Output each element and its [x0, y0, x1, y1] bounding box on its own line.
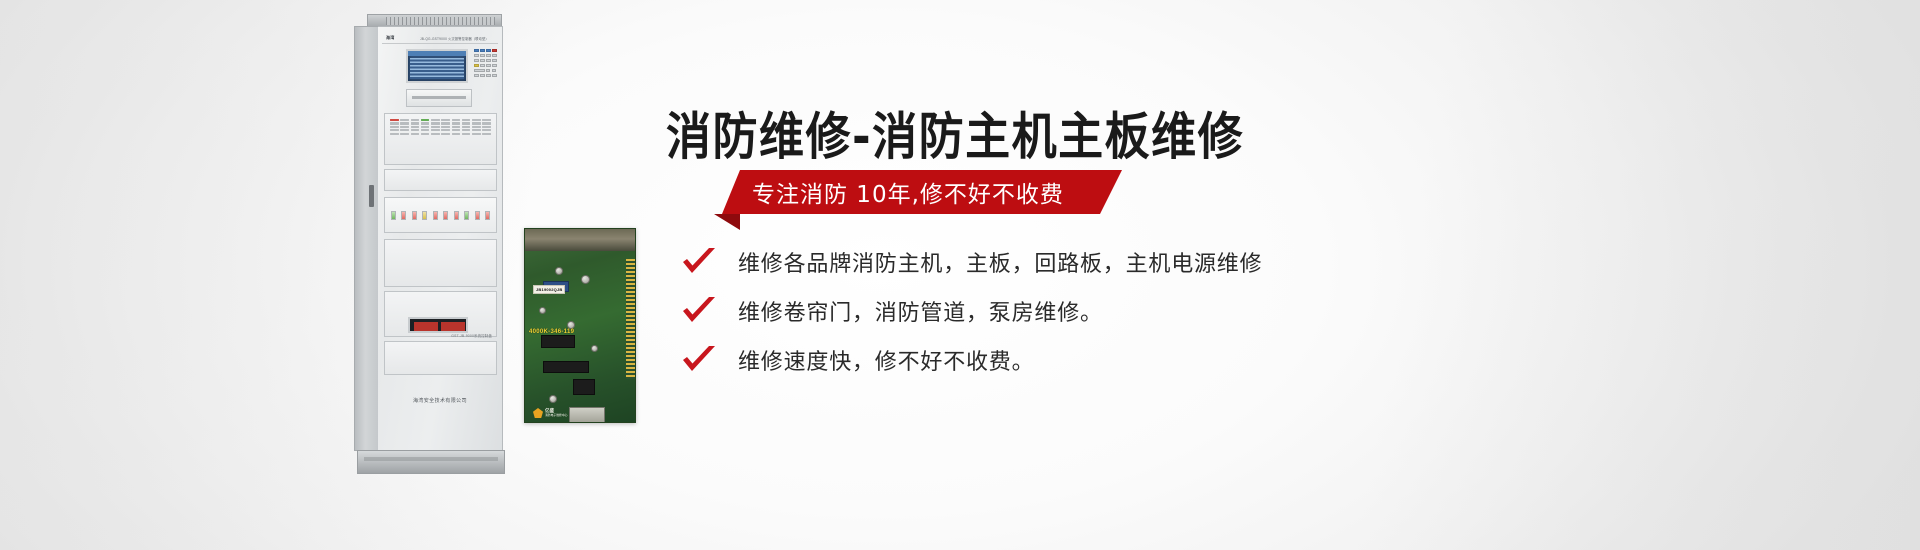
- cabinet-printer-slot: [406, 89, 472, 107]
- feature-list: 维修各品牌消防主机，主板，回路板，主机电源维修 维修卷帘门，消防管道，泵房维修。…: [682, 240, 1782, 387]
- cabinet-side-door: [354, 26, 379, 451]
- lcd-text-rows: [410, 58, 464, 79]
- board-chip: [541, 335, 575, 348]
- board-chip: [543, 361, 589, 373]
- shield-icon: [533, 408, 543, 418]
- cabinet-door-handle: [369, 185, 374, 207]
- badge-title: 亿盛消防电子维修中心: [545, 409, 567, 417]
- board-sticker-label: JB19002QJB: [533, 285, 565, 294]
- fire-alarm-control-panel-image: 海湾 JB-QG-GST9000 火灾报警控制器（联动型）: [345, 14, 520, 474]
- cabinet-front-panel: 海湾 JB-QG-GST9000 火灾报警控制器（联动型）: [378, 26, 503, 451]
- cabinet-brand-bar: 海湾 JB-QG-GST9000 火灾报警控制器（联动型）: [382, 33, 498, 44]
- cabinet-top: [367, 14, 502, 26]
- board-capacitor: [555, 267, 563, 275]
- list-item-label: 维修速度快，修不好不收费。: [738, 344, 1034, 376]
- cabinet-zone-module-4: [384, 239, 497, 287]
- tagline-ribbon: 专注消防 10年,修不好不收费: [722, 170, 1122, 214]
- cabinet-zone-module-1: [384, 113, 497, 165]
- promo-banner: 海湾 JB-QG-GST9000 火灾报警控制器（联动型）: [0, 0, 1920, 550]
- board-capacitor: [567, 321, 575, 329]
- banner-content: 消防维修-消防主机主板维修 专注消防 10年,修不好不收费 维修各品牌消防主机，…: [660, 0, 1840, 550]
- badge-subtitle: 消防电子维修中心: [545, 414, 567, 417]
- page-title: 消防维修-消防主机主板维修: [666, 96, 1244, 169]
- cabinet-indicator-lamp-row: [384, 197, 497, 233]
- board-top-edge: [525, 229, 635, 251]
- cabinet-company-label: 海湾安全技术有限公司: [378, 397, 502, 404]
- cabinet-digital-meter: [408, 317, 468, 333]
- cabinet-model-label: JB-QG-GST9000 火灾报警控制器（联动型）: [420, 36, 489, 41]
- tagline-text: 专注消防 10年,修不好不收费: [752, 175, 1064, 209]
- cabinet-zone-module-2: [384, 169, 497, 191]
- cabinet-brand-label: 海湾: [386, 35, 395, 41]
- circuit-board-image: JB19002QJB 4000K-346-119 亿盛消防电子维修中心: [524, 228, 636, 423]
- cabinet-lcd-display: [406, 49, 468, 83]
- lcd-header-bar: [408, 51, 466, 56]
- ribbon-fold-shadow: [714, 214, 740, 230]
- list-item: 维修卷帘门，消防管道，泵房维修。: [682, 289, 1782, 333]
- check-icon: [682, 296, 716, 326]
- board-capacitor: [591, 345, 598, 352]
- cabinet-zone-module-6: [384, 341, 497, 375]
- list-item-label: 维修卷帘门，消防管道，泵房维修。: [738, 295, 1103, 327]
- list-item: 维修各品牌消防主机，主板，回路板，主机电源维修: [682, 240, 1782, 284]
- board-chip: [573, 379, 595, 395]
- board-capacitor: [549, 395, 557, 403]
- board-edge-connector: [626, 259, 635, 379]
- cabinet-vents: [386, 17, 495, 25]
- board-capacitor: [581, 275, 590, 284]
- cabinet-base: [357, 450, 505, 474]
- board-service-number: 4000K-346-119: [529, 329, 574, 335]
- list-item-label: 维修各品牌消防主机，主板，回路板，主机电源维修: [738, 246, 1262, 278]
- cabinet-keypad: [474, 49, 500, 83]
- check-icon: [682, 345, 716, 375]
- board-capacitor: [539, 307, 546, 314]
- cabinet-side-text: GST-JB-9000系统控制盘: [451, 333, 492, 338]
- check-icon: [682, 247, 716, 277]
- list-item: 维修速度快，修不好不收费。: [682, 338, 1782, 382]
- board-socket-chip: [569, 407, 605, 423]
- board-repair-center-badge: 亿盛消防电子维修中心: [533, 408, 567, 418]
